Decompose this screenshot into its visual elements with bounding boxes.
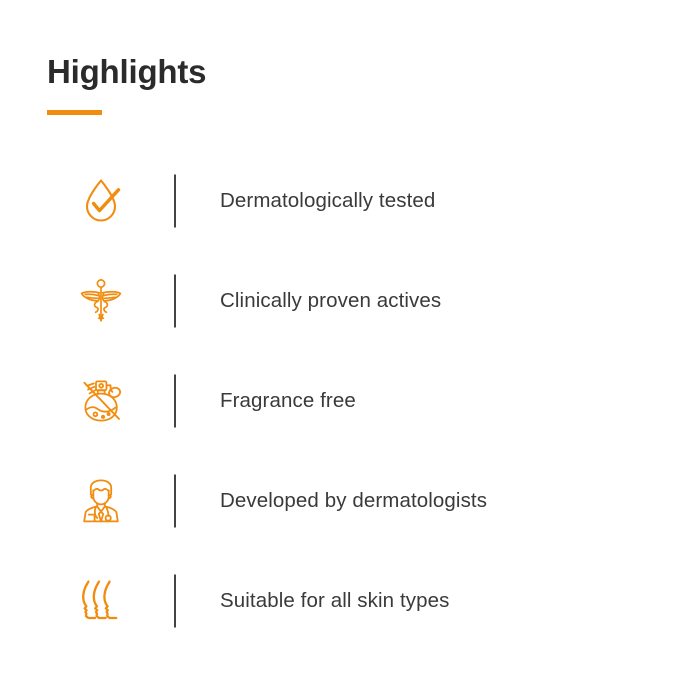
droplet-check-icon: [73, 173, 129, 229]
list-item-label: Dermatologically tested: [220, 189, 435, 213]
page-title: Highlights: [47, 52, 206, 92]
highlights-page: Highlights Dermatologically tested: [0, 0, 700, 700]
doctor-stethoscope-icon: [73, 473, 129, 529]
highlights-list: Dermatologically tested: [0, 151, 700, 651]
row-divider: [174, 275, 176, 328]
page-header: Highlights: [47, 52, 206, 115]
caduceus-icon: [73, 273, 129, 329]
no-perfume-bottle-icon: [73, 373, 129, 429]
row-divider: [174, 475, 176, 528]
list-item-label: Developed by dermatologists: [220, 489, 487, 513]
row-divider: [174, 375, 176, 428]
list-item: Dermatologically tested: [0, 151, 700, 251]
list-item: Developed by dermatologists: [0, 451, 700, 551]
list-item-label: Suitable for all skin types: [220, 589, 449, 613]
list-item: Fragrance free: [0, 351, 700, 451]
title-underline-accent: [47, 110, 102, 115]
row-divider: [174, 575, 176, 628]
list-item-label: Clinically proven actives: [220, 289, 441, 313]
list-item-label: Fragrance free: [220, 389, 356, 413]
three-face-profiles-icon: [73, 573, 129, 629]
list-item: Clinically proven actives: [0, 251, 700, 351]
list-item: Suitable for all skin types: [0, 551, 700, 651]
row-divider: [174, 175, 176, 228]
